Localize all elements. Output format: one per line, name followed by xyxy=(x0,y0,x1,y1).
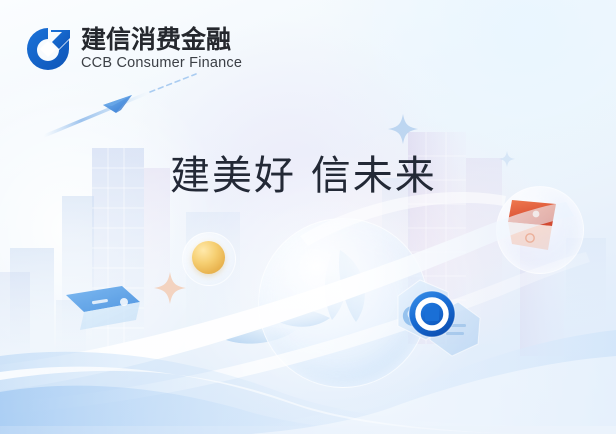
brand-name-cn: 建信消费金融 xyxy=(81,26,242,53)
brand-wordmark: 建信消费金融 CCB Consumer Finance xyxy=(81,26,242,72)
background-wash-left xyxy=(0,60,230,400)
sparkle-icon xyxy=(152,270,188,306)
brand-logo-lockup[interactable]: 建信消费金融 CCB Consumer Finance xyxy=(26,26,242,72)
ccb-consumer-finance-banner: 建美好 信未来 建信消费金融 CCB Consumer Finance xyxy=(0,0,616,434)
sparkle-icon xyxy=(498,150,516,168)
sparkle-icon xyxy=(386,112,420,146)
gold-coin xyxy=(192,241,225,274)
paper-plane-glyph xyxy=(103,95,132,113)
slogan-text: 建美好 信未来 xyxy=(170,152,437,200)
ccb-logo-mark xyxy=(26,27,72,71)
translucent-sphere-small xyxy=(496,186,584,274)
coin-halo xyxy=(182,232,236,286)
brand-name-en: CCB Consumer Finance xyxy=(81,55,242,72)
translucent-sphere xyxy=(258,218,428,388)
